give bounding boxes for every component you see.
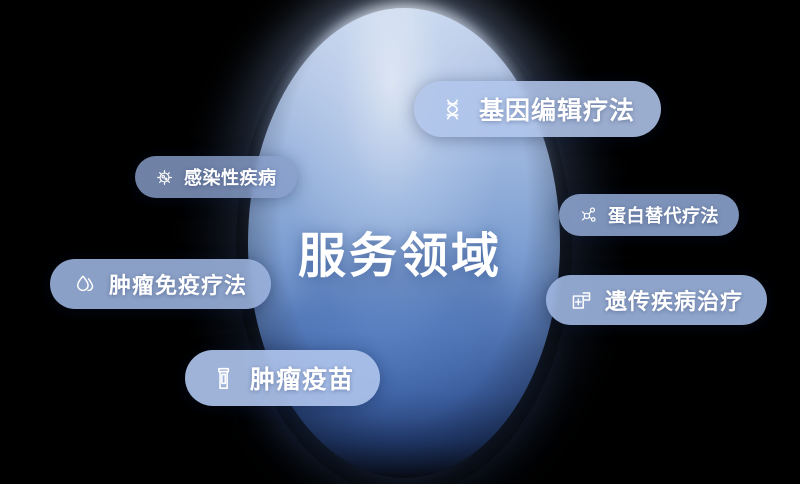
- dna-helix-icon: [440, 97, 465, 122]
- service-areas-diagram: 服务领域 基因编辑疗法: [0, 0, 800, 484]
- pill-label: 感染性疾病: [184, 164, 277, 190]
- vaccine-vial-icon: [211, 366, 236, 391]
- pill-label: 肿瘤疫苗: [250, 360, 354, 396]
- pill-genetic-disease-treatment[interactable]: 遗传疾病治疗: [546, 275, 767, 325]
- pill-tumor-immunotherapy[interactable]: 肿瘤免疫疗法: [50, 259, 271, 309]
- virus-icon: [155, 168, 174, 187]
- pill-label: 遗传疾病治疗: [605, 284, 743, 316]
- pill-label: 肿瘤免疫疗法: [109, 268, 247, 300]
- pill-gene-editing[interactable]: 基因编辑疗法: [414, 81, 661, 137]
- pill-label: 蛋白替代疗法: [608, 202, 719, 228]
- pill-infectious-diseases[interactable]: 感染性疾病: [135, 156, 297, 198]
- molecule-icon: [579, 206, 598, 225]
- medical-case-plus-icon: [570, 289, 593, 312]
- droplet-icon: [74, 273, 97, 296]
- pill-tumor-vaccine[interactable]: 肿瘤疫苗: [185, 350, 380, 406]
- pill-protein-replacement[interactable]: 蛋白替代疗法: [559, 194, 739, 236]
- pill-label: 基因编辑疗法: [479, 91, 635, 127]
